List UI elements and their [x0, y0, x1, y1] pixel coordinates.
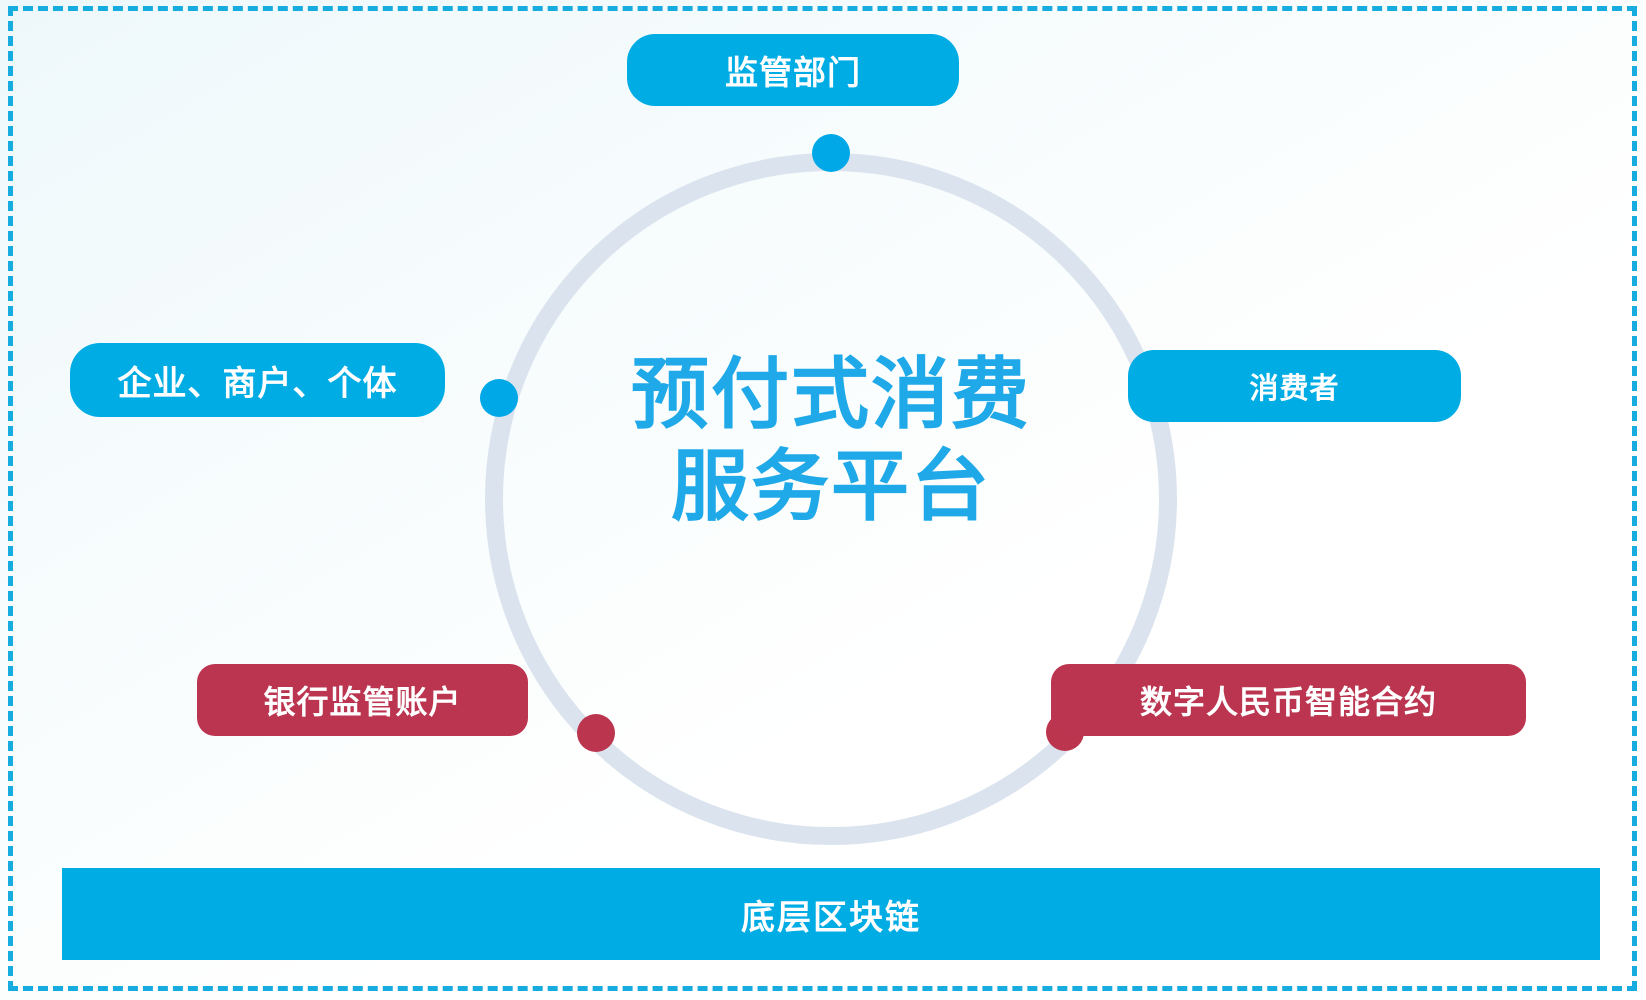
node-dot-enterprise: [480, 379, 518, 417]
node-label-bank-account[interactable]: 银行监管账户: [197, 664, 528, 736]
center-title-line-2: 服务平台: [566, 440, 1096, 532]
node-dot-regulator: [812, 134, 850, 172]
node-label-regulator[interactable]: 监管部门: [627, 34, 959, 106]
node-label-enterprise[interactable]: 企业、商户、个体: [70, 343, 445, 417]
diagram-canvas: 监管部门 企业、商户、个体 消费者 银行监管账户 数字人民币智能合约 预付式消费…: [0, 0, 1646, 1000]
center-title-line-1: 预付式消费: [566, 348, 1096, 440]
foundation-bar[interactable]: 底层区块链: [62, 868, 1600, 960]
node-label-smart-contract[interactable]: 数字人民币智能合约: [1051, 664, 1526, 736]
node-dot-bank-account: [577, 714, 615, 752]
node-label-consumer[interactable]: 消费者: [1128, 350, 1461, 422]
foundation-bar-label: 底层区块链: [741, 890, 921, 939]
center-platform-title: 预付式消费 服务平台: [566, 348, 1096, 532]
